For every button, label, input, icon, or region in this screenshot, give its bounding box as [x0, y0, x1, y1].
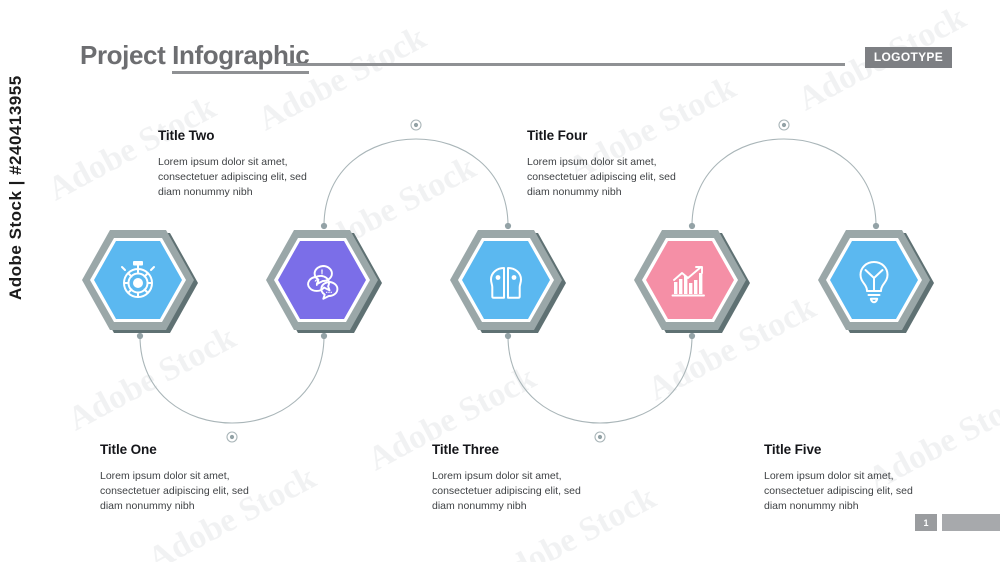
connector-midpoint-dot-icon: [782, 123, 786, 127]
block-title: Title Two: [158, 128, 310, 143]
block-body: Lorem ipsum dolor sit amet, consectetuer…: [100, 469, 252, 514]
logotype-badge: LOGOTYPE: [865, 47, 952, 68]
footer-bar: [942, 514, 1000, 531]
hex-node-3[interactable]: [448, 228, 568, 334]
infographic-slide: Adobe Stock Adobe Stock Adobe Stock Adob…: [0, 0, 1000, 562]
block-four: Title Four Lorem ipsum dolor sit amet, c…: [527, 128, 679, 200]
connector-arc-2-3: [324, 139, 508, 226]
connector-midpoint-dot-icon: [230, 435, 234, 439]
slide-header: Project Infographic LOGOTYPE: [0, 0, 1000, 95]
connector-midpoint-ring-icon: [227, 432, 237, 442]
block-body: Lorem ipsum dolor sit amet, consectetuer…: [432, 469, 584, 514]
connector-arc-4-5: [692, 139, 876, 226]
svg-text:?: ?: [314, 278, 320, 288]
block-title: Title Four: [527, 128, 679, 143]
connector-midpoint-ring-icon: [595, 432, 605, 442]
connector-midpoint-dot-icon: [414, 123, 418, 127]
block-title: Title Five: [764, 442, 916, 457]
block-one: Title One Lorem ipsum dolor sit amet, co…: [100, 442, 252, 514]
stock-watermark-label: Adobe Stock | #240413955: [6, 75, 26, 300]
connector-midpoint-ring-icon: [779, 120, 789, 130]
block-body: Lorem ipsum dolor sit amet, consectetuer…: [158, 155, 310, 200]
block-title: Title Three: [432, 442, 584, 457]
block-body: Lorem ipsum dolor sit amet, consectetuer…: [764, 469, 916, 514]
connector-arc-3-4: [508, 336, 692, 423]
connector-midpoint-dot-icon: [598, 435, 602, 439]
block-body: Lorem ipsum dolor sit amet, consectetuer…: [527, 155, 679, 200]
connector-midpoint-ring-icon: [411, 120, 421, 130]
header-divider: [286, 63, 845, 66]
page-number-badge: 1: [915, 514, 937, 531]
block-two: Title Two Lorem ipsum dolor sit amet, co…: [158, 128, 310, 200]
hex-node-4[interactable]: [632, 228, 752, 334]
svg-text:...: ...: [326, 286, 333, 295]
page-title-word-1: Project: [80, 40, 165, 70]
hex-node-2[interactable]: ! ? ...: [264, 228, 384, 334]
block-five: Title Five Lorem ipsum dolor sit amet, c…: [764, 442, 916, 514]
watermark-tile: Adobe Stock: [62, 319, 242, 439]
block-three: Title Three Lorem ipsum dolor sit amet, …: [432, 442, 584, 514]
connector-arc-1-2: [140, 336, 324, 423]
hex-node-5[interactable]: [816, 228, 936, 334]
page-title: Project Infographic: [80, 40, 309, 71]
block-title: Title One: [100, 442, 252, 457]
hex-node-1[interactable]: [80, 228, 200, 334]
page-title-word-2: Infographic: [172, 40, 309, 74]
svg-text:!: !: [321, 268, 324, 278]
